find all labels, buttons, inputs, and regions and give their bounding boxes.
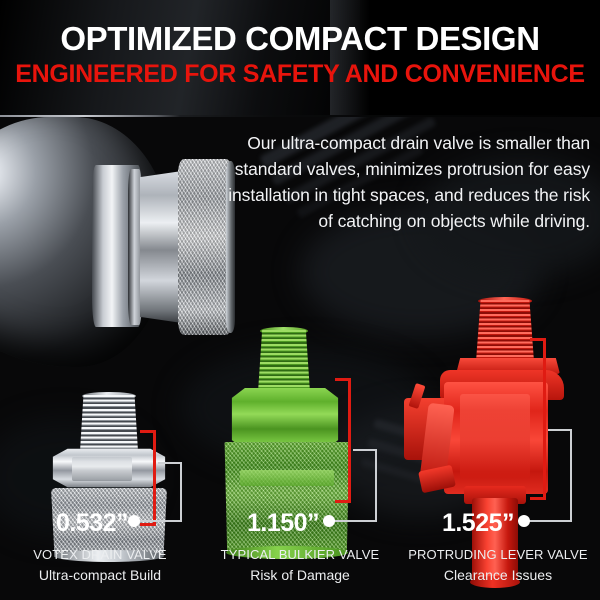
- header-banner: OPTIMIZED COMPACT DESIGN ENGINEERED FOR …: [0, 0, 600, 117]
- page-title: OPTIMIZED COMPACT DESIGN: [0, 20, 600, 58]
- measurement-value-green: 1.150”: [195, 509, 319, 538]
- description-paragraph: Our ultra-compact drain valve is smaller…: [228, 130, 590, 234]
- leader-line-green: [353, 449, 377, 522]
- header-gradient-decoration: [0, 0, 360, 117]
- leader-horizontal-top: [353, 449, 377, 451]
- caption-title-green: TYPICAL BULKIER VALVE: [200, 547, 400, 562]
- leader-horizontal-top: [158, 462, 182, 464]
- caption-subtitle-red: Clearance Issues: [398, 567, 598, 583]
- installed-valve-knurled-cap: [178, 159, 232, 335]
- bracket-cap-bottom: [335, 500, 351, 503]
- bracket-vertical-line: [348, 378, 351, 503]
- caption-title-silver: VOTEX DRAIN VALVE: [0, 547, 200, 562]
- header-glow-decoration: [330, 0, 370, 117]
- measurement-bracket-silver: [137, 430, 156, 526]
- caption-subtitle-green: Risk of Damage: [200, 567, 400, 583]
- valve-red-threaded-nipple: [476, 300, 534, 362]
- bracket-vertical-line: [543, 338, 546, 500]
- measurement-value-silver: 0.532”: [0, 509, 128, 538]
- leader-dot-green: [323, 515, 335, 527]
- measurement-bracket-green: [332, 378, 351, 503]
- leader-vertical: [570, 429, 572, 522]
- leader-line-red: [548, 429, 572, 522]
- page-subtitle: ENGINEERED FOR SAFETY AND CONVENIENCE: [0, 60, 600, 88]
- bracket-vertical-line: [153, 430, 156, 526]
- valve-green-threaded-nipple: [258, 330, 310, 392]
- leader-line-silver: [158, 462, 182, 522]
- valve-red-body-face: [460, 394, 530, 478]
- measurement-bracket-red: [527, 338, 546, 500]
- leader-dot-red: [518, 515, 530, 527]
- leader-horizontal-top: [548, 429, 572, 431]
- valve-silver-hex-face: [72, 457, 132, 481]
- leader-vertical: [375, 449, 377, 522]
- leader-horizontal-bottom: [136, 520, 180, 522]
- product-photo-area: Our ultra-compact drain valve is smaller…: [0, 117, 600, 600]
- infographic-root: OPTIMIZED COMPACT DESIGN ENGINEERED FOR …: [0, 0, 600, 600]
- valve-green-hex-body: [226, 388, 344, 450]
- valve-green-band: [240, 470, 334, 486]
- caption-title-red: PROTRUDING LEVER VALVE: [398, 547, 598, 562]
- leader-dot-silver: [128, 515, 140, 527]
- bracket-cap-bottom: [140, 523, 156, 526]
- leader-horizontal-bottom: [526, 520, 570, 522]
- installed-valve-hex-nut: [140, 171, 182, 323]
- measurement-value-red: 1.525”: [390, 509, 514, 538]
- caption-subtitle-silver: Ultra-compact Build: [0, 567, 200, 583]
- valve-silver-threaded-nipple: [80, 395, 138, 451]
- leader-vertical: [180, 462, 182, 522]
- leader-horizontal-bottom: [331, 520, 375, 522]
- bracket-cap-bottom: [530, 497, 546, 500]
- oil-pan-ring: [128, 169, 142, 325]
